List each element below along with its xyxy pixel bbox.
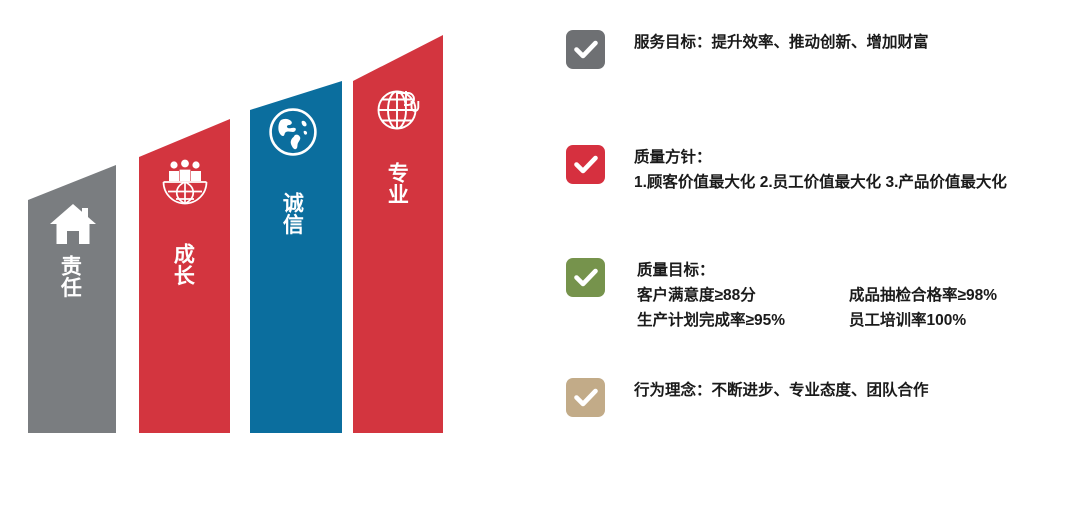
list-item-service-goal[interactable]: 服务目标：提升效率、推动创新、增加财富	[566, 30, 929, 69]
check-icon[interactable]	[566, 30, 605, 69]
bar-shape-professional[interactable]	[353, 35, 443, 433]
list-item-heading: 质量方针：	[634, 145, 1007, 170]
metric-customer-satisfaction: 客户满意度≥88分	[637, 283, 849, 308]
metric-employee-training-rate: 员工培训率100%	[849, 308, 997, 333]
list-item-heading: 服务目标：提升效率、推动创新、增加财富	[634, 30, 929, 55]
check-icon[interactable]	[566, 258, 605, 297]
values-bar-chart: 责任 成长	[0, 0, 520, 514]
list-item-heading: 行为理念：不断进步、专业态度、团队合作	[634, 378, 929, 403]
bar-shape-responsibility[interactable]	[28, 165, 116, 433]
policy-list: 服务目标：提升效率、推动创新、增加财富 质量方针： 1.顾客价值最大化 2.员工…	[562, 0, 1075, 514]
bar-shape-integrity[interactable]	[250, 81, 342, 433]
bar-label-responsibility: 责任	[57, 255, 81, 298]
bar-label-growth: 成长	[170, 243, 194, 286]
metric-production-plan-completion: 生产计划完成率≥95%	[637, 308, 849, 333]
list-item-behavior-philosophy[interactable]: 行为理念：不断进步、专业态度、团队合作	[566, 378, 929, 417]
list-item-heading: 质量目标：	[637, 258, 997, 283]
bar-label-professional: 专业	[384, 162, 408, 205]
list-item-quality-targets[interactable]: 质量目标： 客户满意度≥88分 成品抽检合格率≥98% 生产计划完成率≥95% …	[566, 258, 997, 333]
metrics-grid: 客户满意度≥88分 成品抽检合格率≥98% 生产计划完成率≥95% 员工培训率1…	[637, 283, 997, 333]
list-item-quality-policy[interactable]: 质量方针： 1.顾客价值最大化 2.员工价值最大化 3.产品价值最大化	[566, 145, 1007, 195]
list-item-detail-line: 1.顾客价值最大化 2.员工价值最大化 3.产品价值最大化	[634, 170, 1007, 195]
check-icon[interactable]	[566, 145, 605, 184]
metric-finished-product-pass-rate: 成品抽检合格率≥98%	[849, 283, 997, 308]
bar-label-integrity: 诚信	[279, 192, 303, 235]
check-icon[interactable]	[566, 378, 605, 417]
